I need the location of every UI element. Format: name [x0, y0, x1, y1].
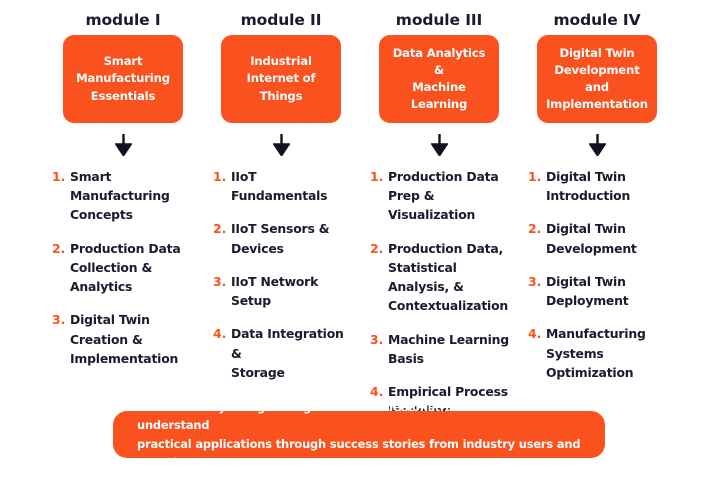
- list-item-number: 4.: [528, 324, 546, 343]
- module-box-label-4: Digital Twin Development and Implementat…: [543, 45, 651, 114]
- module-box-label-1: Smart Manufacturing Essentials: [76, 53, 170, 104]
- list-item[interactable]: 1. Production Data Prep & Visualization: [370, 167, 512, 225]
- list-item[interactable]: 2. Production Data Collection & Analytic…: [52, 239, 196, 297]
- list-item-number: 2.: [52, 239, 70, 258]
- list-item-label: IIoT Sensors & Devices: [231, 219, 329, 257]
- module-column-3: module III Data Analytics & Machine Lear…: [366, 0, 512, 434]
- list-item[interactable]: 3. IIoT Network Setup: [213, 272, 354, 310]
- module-box-1[interactable]: Smart Manufacturing Essentials: [63, 35, 183, 123]
- list-item-label: Production Data Prep & Visualization: [388, 167, 499, 225]
- module-box-4[interactable]: Digital Twin Development and Implementat…: [537, 35, 657, 123]
- list-item-number: 2.: [370, 239, 388, 258]
- topic-list-3: 1. Production Data Prep & Visualization …: [366, 167, 512, 434]
- list-item-label: Digital Twin Development: [546, 219, 637, 257]
- list-item[interactable]: 4. Manufacturing Systems Optimization: [528, 324, 670, 382]
- list-item-label: IIoT Fundamentals: [231, 167, 354, 205]
- list-item[interactable]: 2. IIoT Sensors & Devices: [213, 219, 354, 257]
- course-modules-infographic: module I Smart Manufacturing Essentials …: [0, 0, 717, 480]
- list-item-number: 1.: [528, 167, 546, 186]
- list-item[interactable]: 4. Data Integration & Storage: [213, 324, 354, 382]
- list-item-number: 3.: [213, 272, 231, 291]
- summary-banner: You'll learn by doing through hands-on d…: [113, 411, 605, 458]
- list-item[interactable]: 2. Production Data, Statistical Analysis…: [370, 239, 512, 316]
- list-item-label: Production Data, Statistical Analysis, &…: [388, 239, 508, 316]
- module-column-1: module I Smart Manufacturing Essentials …: [50, 0, 196, 434]
- list-item-label: Manufacturing Systems Optimization: [546, 324, 646, 382]
- module-column-2: module II Industrial Internet of Things …: [208, 0, 354, 434]
- list-item-label: Digital Twin Introduction: [546, 167, 630, 205]
- list-item-label: Digital Twin Creation & Implementation: [70, 310, 178, 368]
- topic-list-1: 1. Smart Manufacturing Concepts 2. Produ…: [50, 167, 196, 382]
- module-header-3: module III: [396, 11, 482, 29]
- list-item-number: 1.: [52, 167, 70, 186]
- module-box-label-2: Industrial Internet of Things: [227, 53, 335, 104]
- down-arrow-icon-3: [431, 134, 448, 156]
- module-columns: module I Smart Manufacturing Essentials …: [0, 0, 717, 434]
- list-item-number: 2.: [213, 219, 231, 238]
- down-arrow-icon-2: [273, 134, 290, 156]
- list-item-number: 3.: [528, 272, 546, 291]
- list-item-number: 3.: [370, 330, 388, 349]
- list-item[interactable]: 2. Digital Twin Development: [528, 219, 670, 257]
- list-item-number: 2.: [528, 219, 546, 238]
- module-header-2: module II: [241, 11, 322, 29]
- module-box-2[interactable]: Industrial Internet of Things: [221, 35, 341, 123]
- list-item-number: 1.: [370, 167, 388, 186]
- list-item[interactable]: 3. Digital Twin Creation & Implementatio…: [52, 310, 196, 368]
- list-item-label: IIoT Network Setup: [231, 272, 354, 310]
- list-item-label: Digital Twin Deployment: [546, 272, 628, 310]
- module-header-1: module I: [85, 11, 160, 29]
- down-arrow-icon-4: [589, 134, 606, 156]
- list-item[interactable]: 3. Machine Learning Basis: [370, 330, 512, 368]
- list-item-number: 1.: [213, 167, 231, 186]
- list-item[interactable]: 1. IIoT Fundamentals: [213, 167, 354, 205]
- topic-list-4: 1. Digital Twin Introduction 2. Digital …: [524, 167, 670, 396]
- module-header-4: module IV: [553, 11, 640, 29]
- list-item-label: Smart Manufacturing Concepts: [70, 167, 170, 225]
- topic-list-2: 1. IIoT Fundamentals 2. IIoT Sensors & D…: [208, 167, 354, 396]
- module-box-3[interactable]: Data Analytics & Machine Learning: [379, 35, 499, 123]
- list-item[interactable]: 1. Smart Manufacturing Concepts: [52, 167, 196, 225]
- summary-banner-text: You'll learn by doing through hands-on d…: [137, 398, 581, 472]
- list-item[interactable]: 1. Digital Twin Introduction: [528, 167, 670, 205]
- module-column-4: module IV Digital Twin Development and I…: [524, 0, 670, 434]
- list-item-label: Production Data Collection & Analytics: [70, 239, 181, 297]
- module-box-label-3: Data Analytics & Machine Learning: [385, 45, 493, 114]
- list-item-label: Machine Learning Basis: [388, 330, 509, 368]
- list-item-label: Data Integration & Storage: [231, 324, 354, 382]
- list-item[interactable]: 3. Digital Twin Deployment: [528, 272, 670, 310]
- list-item-number: 4.: [213, 324, 231, 343]
- down-arrow-icon-1: [115, 134, 132, 156]
- list-item-number: 3.: [52, 310, 70, 329]
